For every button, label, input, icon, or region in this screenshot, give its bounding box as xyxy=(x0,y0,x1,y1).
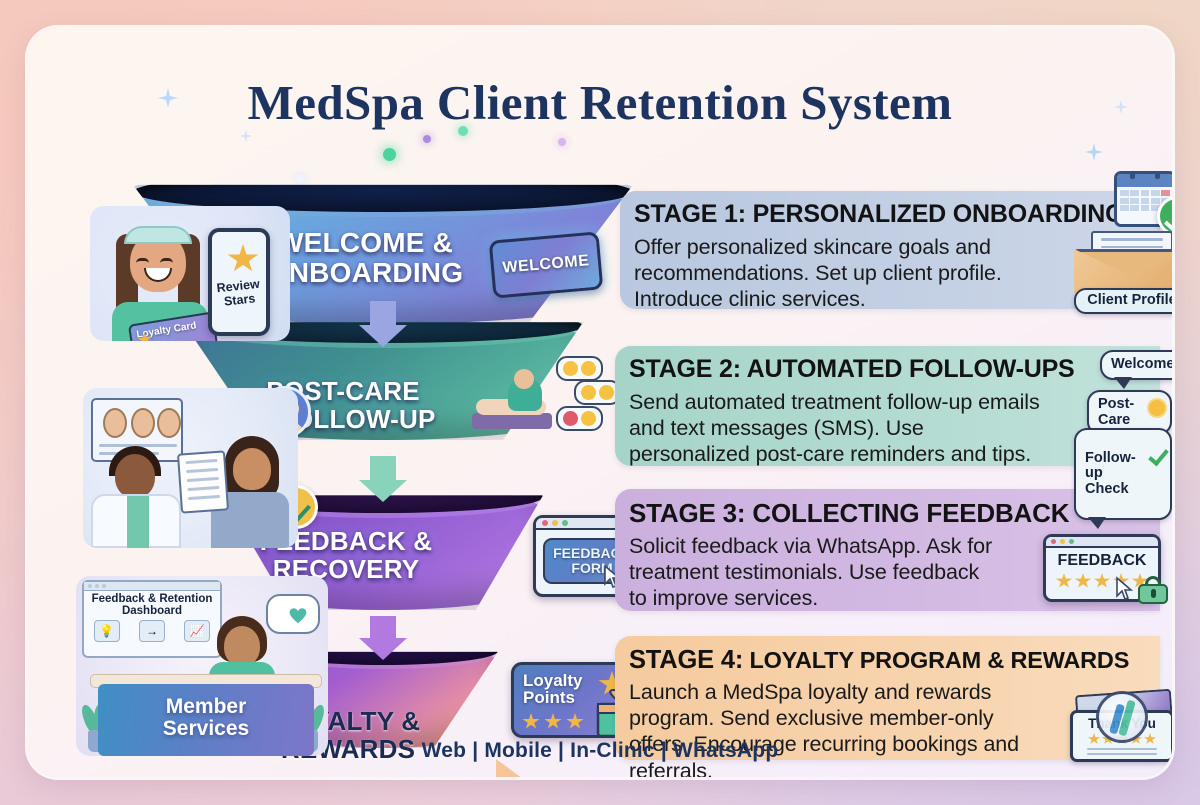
funnel-arrow-3 xyxy=(359,616,407,660)
stage-4-heading: STAGE 4: LOYALTY PROGRAM & REWARDS xyxy=(629,646,1160,674)
arrow-right-icon: → xyxy=(139,620,165,642)
cursor-pointer-icon xyxy=(1114,576,1134,602)
chart-icon: 📈 xyxy=(184,620,210,642)
bubble-followup: Follow-upCheck xyxy=(1074,428,1172,520)
phone-mockup: Review Stars xyxy=(208,228,270,336)
funnel-arrow-2 xyxy=(359,456,407,502)
member-services-illustration: Feedback & Retention Dashboard 💡 → 📈 Mem… xyxy=(76,576,328,756)
check-icon xyxy=(1148,445,1169,467)
stage-1-heading-rest: PERSONALIZED ONBOARDING xyxy=(746,200,1125,228)
clipboard-icon xyxy=(177,450,229,513)
stage-2-heading: STAGE 2: AUTOMATED FOLLOW-UPS xyxy=(629,356,1160,384)
stage-3-heading-rest: COLLECTING FEEDBACK xyxy=(745,498,1069,528)
dashboard-line2: Dashboard xyxy=(84,605,220,617)
member-line1: Member xyxy=(98,696,314,718)
gold-star-icon xyxy=(544,713,562,730)
sparkle-star-icon xyxy=(1085,143,1103,161)
massage-illustration xyxy=(468,373,556,435)
loyalty-line1: Loyalty xyxy=(523,672,583,689)
lightbulb-icon: 💡 xyxy=(94,620,120,642)
sparkle-star-icon xyxy=(240,130,252,142)
member-services-label: Member Services xyxy=(98,696,314,740)
sparkle-dot xyxy=(423,135,431,143)
welcome-tablet-label: WELCOME xyxy=(502,252,590,278)
bubble-welcome-label: Welcome xyxy=(1111,356,1172,372)
sun-icon xyxy=(1149,400,1165,416)
watermark-logo xyxy=(1096,691,1148,743)
bubble-postcare-label: Post-Care xyxy=(1098,396,1134,428)
dashboard-title: Feedback & Retention Dashboard xyxy=(84,593,220,617)
dashboard-screen: Feedback & Retention Dashboard 💡 → 📈 xyxy=(82,580,222,658)
infographic-card: MedSpa Client Retention System WELCOME &… xyxy=(28,28,1172,777)
feedback-window-label: FEEDBACK xyxy=(1046,552,1158,570)
bubble-welcome: Welcome xyxy=(1100,350,1172,380)
stage-1-heading-prefix: STAGE 1: xyxy=(634,200,746,228)
client-profile-label: Client Profile xyxy=(1087,293,1172,309)
stage-2-heading-prefix: STAGE 2: xyxy=(629,355,741,383)
stage-1-body: Offer personalized skincare goals and re… xyxy=(634,234,1074,313)
funnel-label-text: WELCOME &ONBOARDING xyxy=(267,227,463,288)
sparkle-dot xyxy=(558,138,566,146)
stage-4-heading-rest: LOYALTY PROGRAM & REWARDS xyxy=(743,647,1129,673)
stage-2-heading-rest: AUTOMATED FOLLOW-UPS xyxy=(741,355,1075,383)
stage-1-heading: STAGE 1: PERSONALIZED ONBOARDING xyxy=(634,201,1160,229)
member-line2: Services xyxy=(98,718,314,740)
client-profile-badge: Client Profile xyxy=(1074,288,1172,314)
gold-star-icon xyxy=(227,244,259,274)
stage-2-body: Send automated treatment follow-up email… xyxy=(629,389,1049,468)
gold-star-icon xyxy=(1094,573,1111,589)
gold-star-icon xyxy=(1056,573,1073,589)
loyalty-points-title: Loyalty Points xyxy=(523,672,583,707)
consultation-illustration xyxy=(83,388,298,548)
review-stars-label: Review Stars xyxy=(211,277,268,310)
onboarding-illustration: Loyalty Card Review Stars xyxy=(90,206,290,341)
heart-icon xyxy=(288,606,308,624)
page-title: MedSpa Client Retention System xyxy=(28,74,1172,131)
stage-3-body: Solicit feedback via WhatsApp. Ask for t… xyxy=(629,533,999,612)
gold-star-icon xyxy=(566,713,584,730)
gold-star-icon xyxy=(1075,573,1092,589)
welcome-tablet-card: WELCOME xyxy=(489,231,604,298)
window-titlebar xyxy=(1046,537,1158,548)
loyalty-star-row xyxy=(522,713,584,730)
funnel-arrow-1 xyxy=(359,301,407,347)
stage-4-heading-prefix: STAGE 4: xyxy=(629,646,743,674)
dashboard-line1: Feedback & Retention xyxy=(84,593,220,605)
footer-channels: Web | Mobile | In-Clinic | WhatsApp xyxy=(28,739,1172,763)
sparkle-dot xyxy=(383,148,396,161)
gold-star-icon xyxy=(522,713,540,730)
heart-bubble xyxy=(266,594,320,634)
loyalty-line2: Points xyxy=(523,689,583,706)
bubble-followup-label: Follow-upCheck xyxy=(1085,451,1144,498)
lock-icon xyxy=(1138,576,1168,604)
stage-3-heading-prefix: STAGE 3: xyxy=(629,498,745,528)
